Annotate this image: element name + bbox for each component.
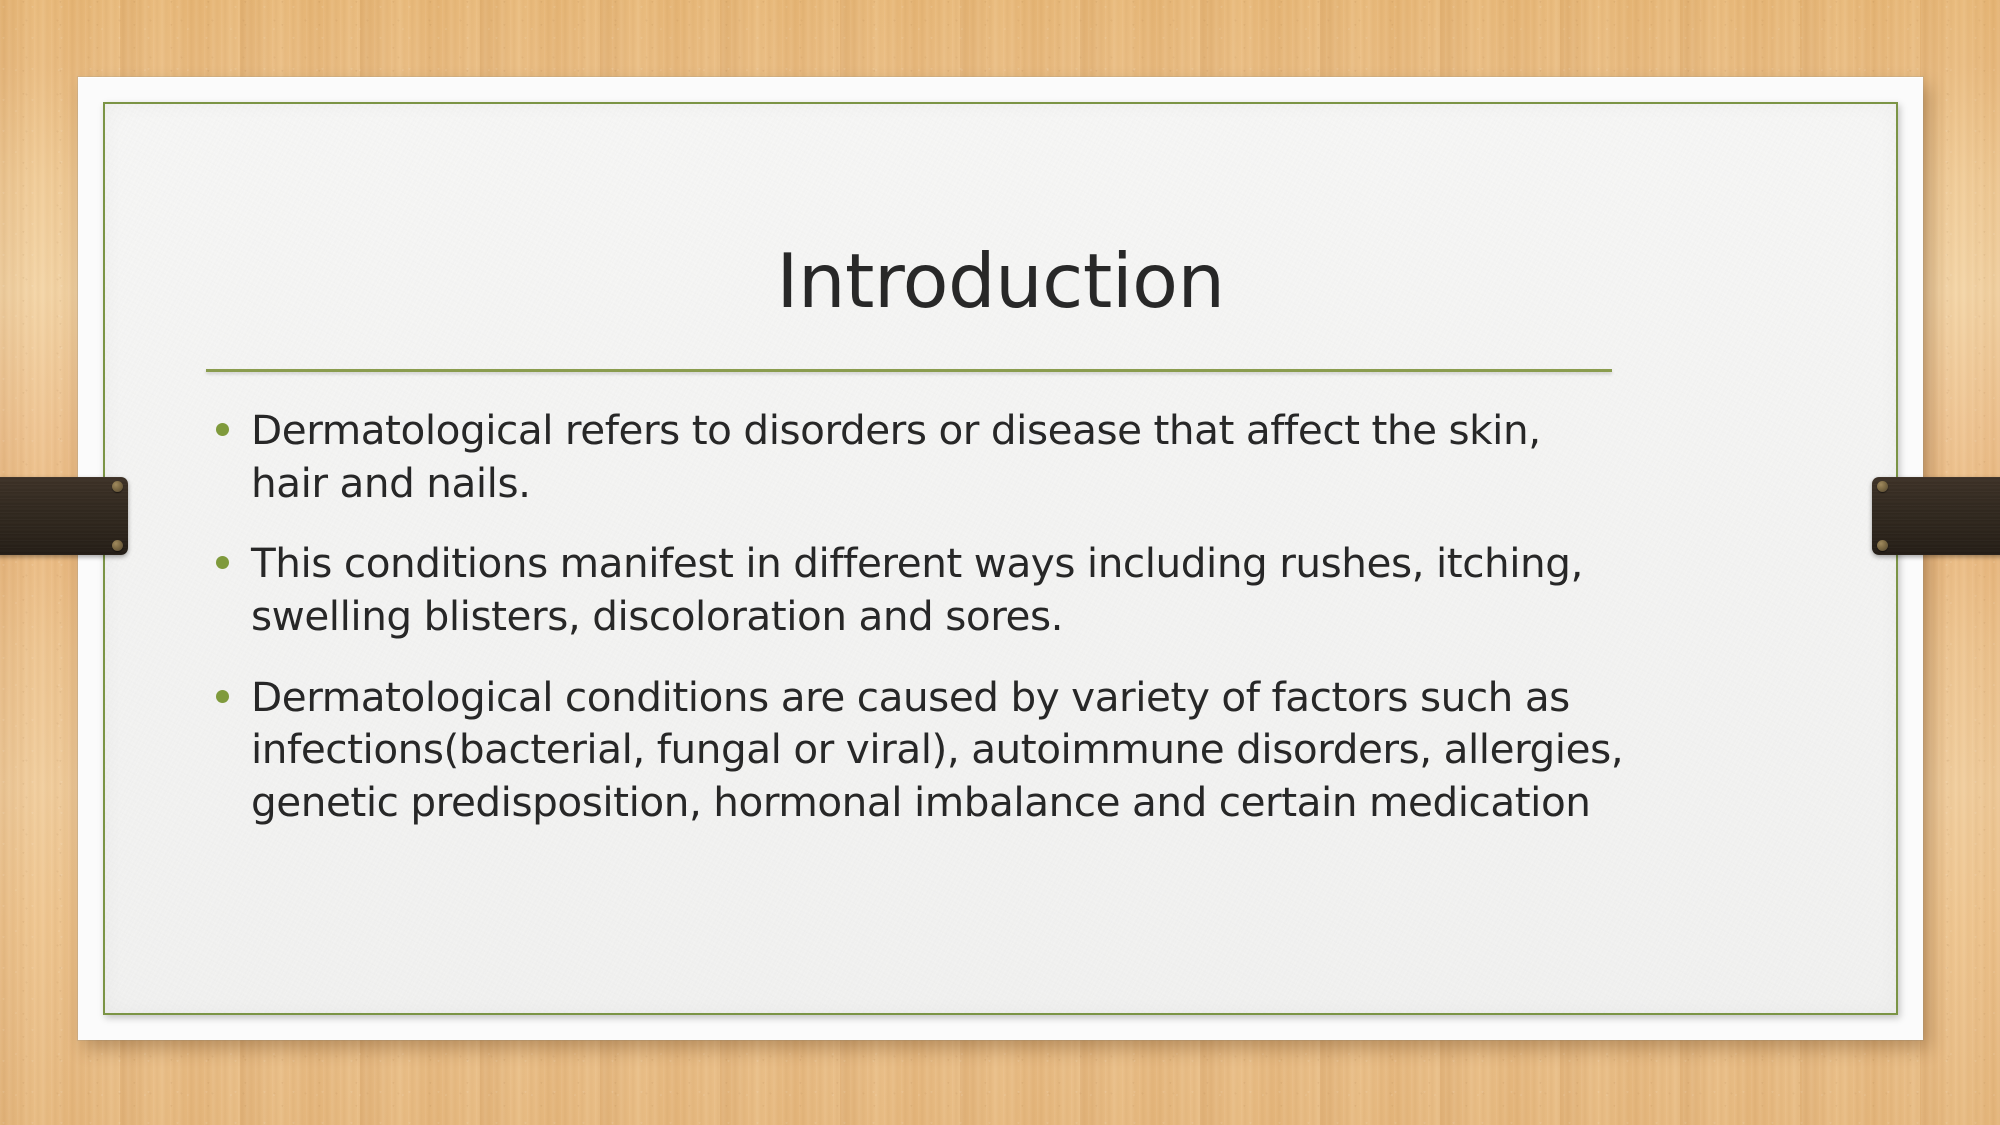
strap-stud-bottom-right-icon (1877, 540, 1888, 551)
title-divider (206, 369, 1612, 372)
bullet-dot-icon (216, 423, 229, 436)
bullet-dot-icon (216, 556, 229, 569)
strap-stud-bottom-left-icon (112, 540, 123, 551)
presentation-slide: Introduction Dermatological refers to di… (0, 0, 2000, 1125)
bullet-text: Dermatological refers to disorders or di… (251, 404, 1625, 509)
slide-paper-card: Introduction Dermatological refers to di… (78, 77, 1923, 1040)
strap-stud-top-right-icon (1877, 481, 1888, 492)
bullet-text: Dermatological conditions are caused by … (251, 671, 1625, 829)
bullet-list: Dermatological refers to disorders or di… (195, 404, 1625, 828)
list-item: Dermatological conditions are caused by … (195, 671, 1625, 829)
strap-stud-top-left-icon (112, 481, 123, 492)
bullet-text: This conditions manifest in different wa… (251, 537, 1625, 642)
page-title: Introduction (105, 244, 1896, 319)
list-item: Dermatological refers to disorders or di… (195, 404, 1625, 509)
leather-strap-left (0, 477, 128, 555)
leather-strap-right (1872, 477, 2000, 555)
list-item: This conditions manifest in different wa… (195, 537, 1625, 642)
slide-content-area: Introduction Dermatological refers to di… (105, 104, 1896, 1013)
slide-inner-border: Introduction Dermatological refers to di… (103, 102, 1898, 1015)
bullet-dot-icon (216, 690, 229, 703)
